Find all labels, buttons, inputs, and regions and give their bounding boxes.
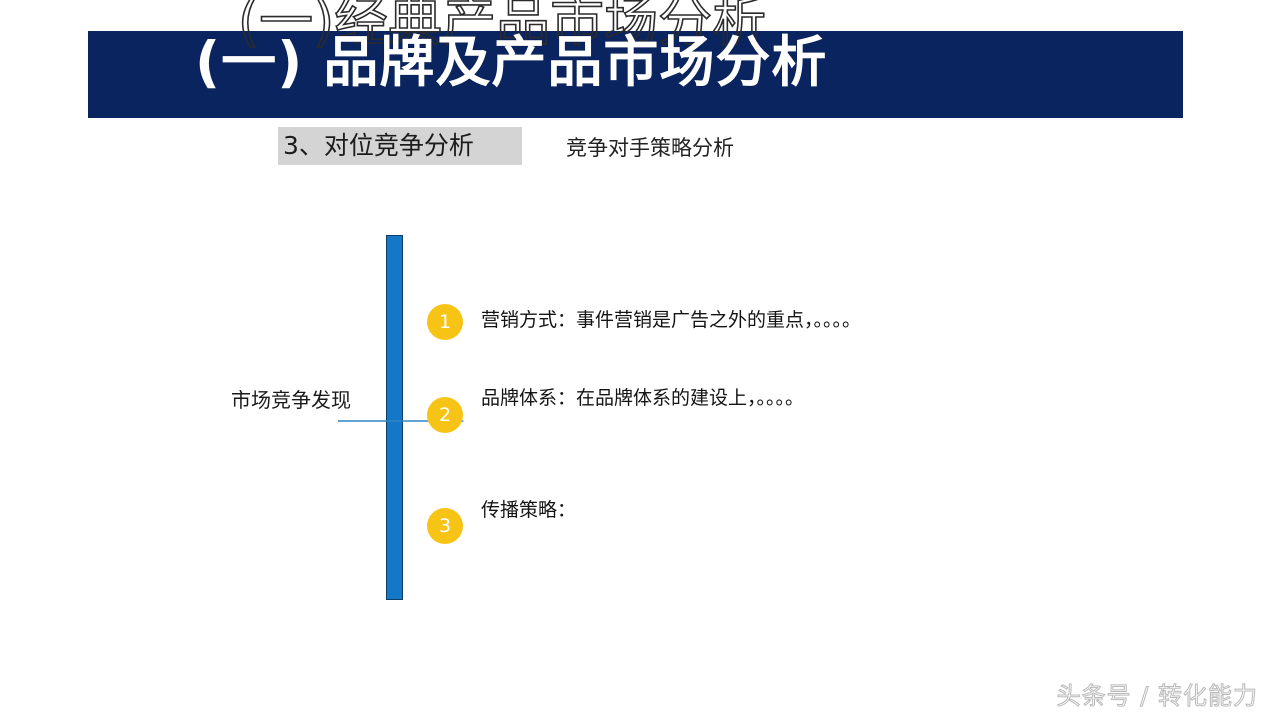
section-chip-label: 3、对位竞争分析 [283, 129, 523, 163]
page-title: (一) 品牌及产品市场分析 [195, 26, 827, 98]
node-text: 营销方式：事件营销是广告之外的重点，。。。。 [481, 305, 861, 332]
node-text: 品牌体系：在品牌体系的建设上，。。。。 [481, 383, 804, 410]
node-number-badge: 3 [427, 508, 463, 544]
slide-canvas: (一)经典产品市场分析 (一) 品牌及产品市场分析 3、对位竞争分析 竞争对手策… [0, 0, 1280, 720]
node-number-badge: 1 [427, 304, 463, 340]
section-note: 竞争对手策略分析 [566, 132, 734, 162]
watermark: 头条号 / 转化能力 [1057, 676, 1258, 711]
node-text: 传播策略： [481, 495, 576, 522]
diagram-left-label: 市场竞争发现 [231, 385, 371, 416]
node-number-badge: 2 [427, 397, 463, 433]
